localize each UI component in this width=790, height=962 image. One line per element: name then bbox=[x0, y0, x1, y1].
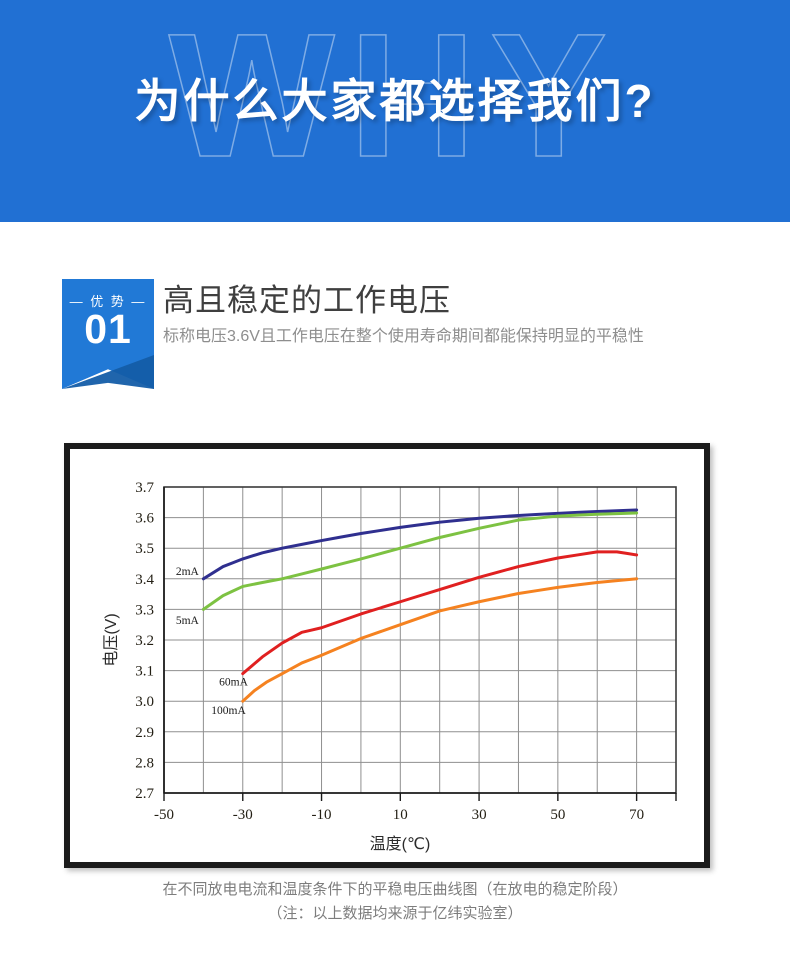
svg-text:-50: -50 bbox=[154, 807, 174, 823]
svg-text:3.2: 3.2 bbox=[135, 633, 154, 649]
feature-description: 标称电压3.6V且工作电压在整个使用寿命期间都能保持明显的平稳性 bbox=[163, 325, 743, 348]
svg-text:50: 50 bbox=[550, 807, 565, 823]
svg-text:3.7: 3.7 bbox=[135, 480, 154, 496]
badge-number: 01 bbox=[62, 307, 154, 351]
svg-text:3.1: 3.1 bbox=[135, 664, 154, 680]
svg-text:3.0: 3.0 bbox=[135, 694, 154, 710]
svg-text:温度(℃): 温度(℃) bbox=[370, 835, 431, 853]
chart-inner: 2.72.82.93.03.13.23.33.43.53.63.7-50-30-… bbox=[70, 449, 704, 862]
chart-caption-line1: 在不同放电电流和温度条件下的平稳电压曲线图（在放电的稳定阶段） bbox=[0, 878, 790, 902]
page-title: 为什么大家都选择我们? bbox=[0, 72, 790, 130]
voltage-temperature-chart: 2.72.82.93.03.13.23.33.43.53.63.7-50-30-… bbox=[70, 449, 704, 862]
svg-text:5mA: 5mA bbox=[176, 615, 200, 627]
svg-text:2mA: 2mA bbox=[176, 566, 200, 578]
svg-text:100mA: 100mA bbox=[211, 705, 246, 717]
feature-heading: 高且稳定的工作电压 bbox=[163, 282, 743, 319]
feature-block: — 优 势 — 01 高且稳定的工作电压 标称电压3.6V且工作电压在整个使用寿… bbox=[0, 222, 790, 432]
chart-card: 2.72.82.93.03.13.23.33.43.53.63.7-50-30-… bbox=[64, 443, 710, 868]
svg-text:30: 30 bbox=[472, 807, 487, 823]
svg-text:2.8: 2.8 bbox=[135, 755, 154, 771]
svg-text:-10: -10 bbox=[312, 807, 332, 823]
svg-text:70: 70 bbox=[629, 807, 644, 823]
advantage-badge: — 优 势 — 01 bbox=[62, 279, 154, 389]
svg-text:2.7: 2.7 bbox=[135, 786, 154, 802]
svg-text:3.3: 3.3 bbox=[135, 602, 154, 618]
svg-text:3.5: 3.5 bbox=[135, 541, 154, 557]
svg-text:3.4: 3.4 bbox=[135, 572, 154, 588]
svg-text:60mA: 60mA bbox=[219, 676, 248, 688]
chart-caption-line2: （注：以上数据均来源于亿纬实验室） bbox=[0, 902, 790, 926]
svg-text:2.9: 2.9 bbox=[135, 725, 154, 741]
hero-banner: WHY 为什么大家都选择我们? bbox=[0, 0, 790, 222]
svg-text:电压(V): 电压(V) bbox=[102, 613, 120, 666]
svg-text:3.6: 3.6 bbox=[135, 511, 154, 527]
svg-text:10: 10 bbox=[393, 807, 408, 823]
chart-caption: 在不同放电电流和温度条件下的平稳电压曲线图（在放电的稳定阶段） （注：以上数据均… bbox=[0, 878, 790, 926]
feature-text-group: 高且稳定的工作电压 标称电压3.6V且工作电压在整个使用寿命期间都能保持明显的平… bbox=[163, 282, 743, 348]
svg-text:-30: -30 bbox=[233, 807, 253, 823]
